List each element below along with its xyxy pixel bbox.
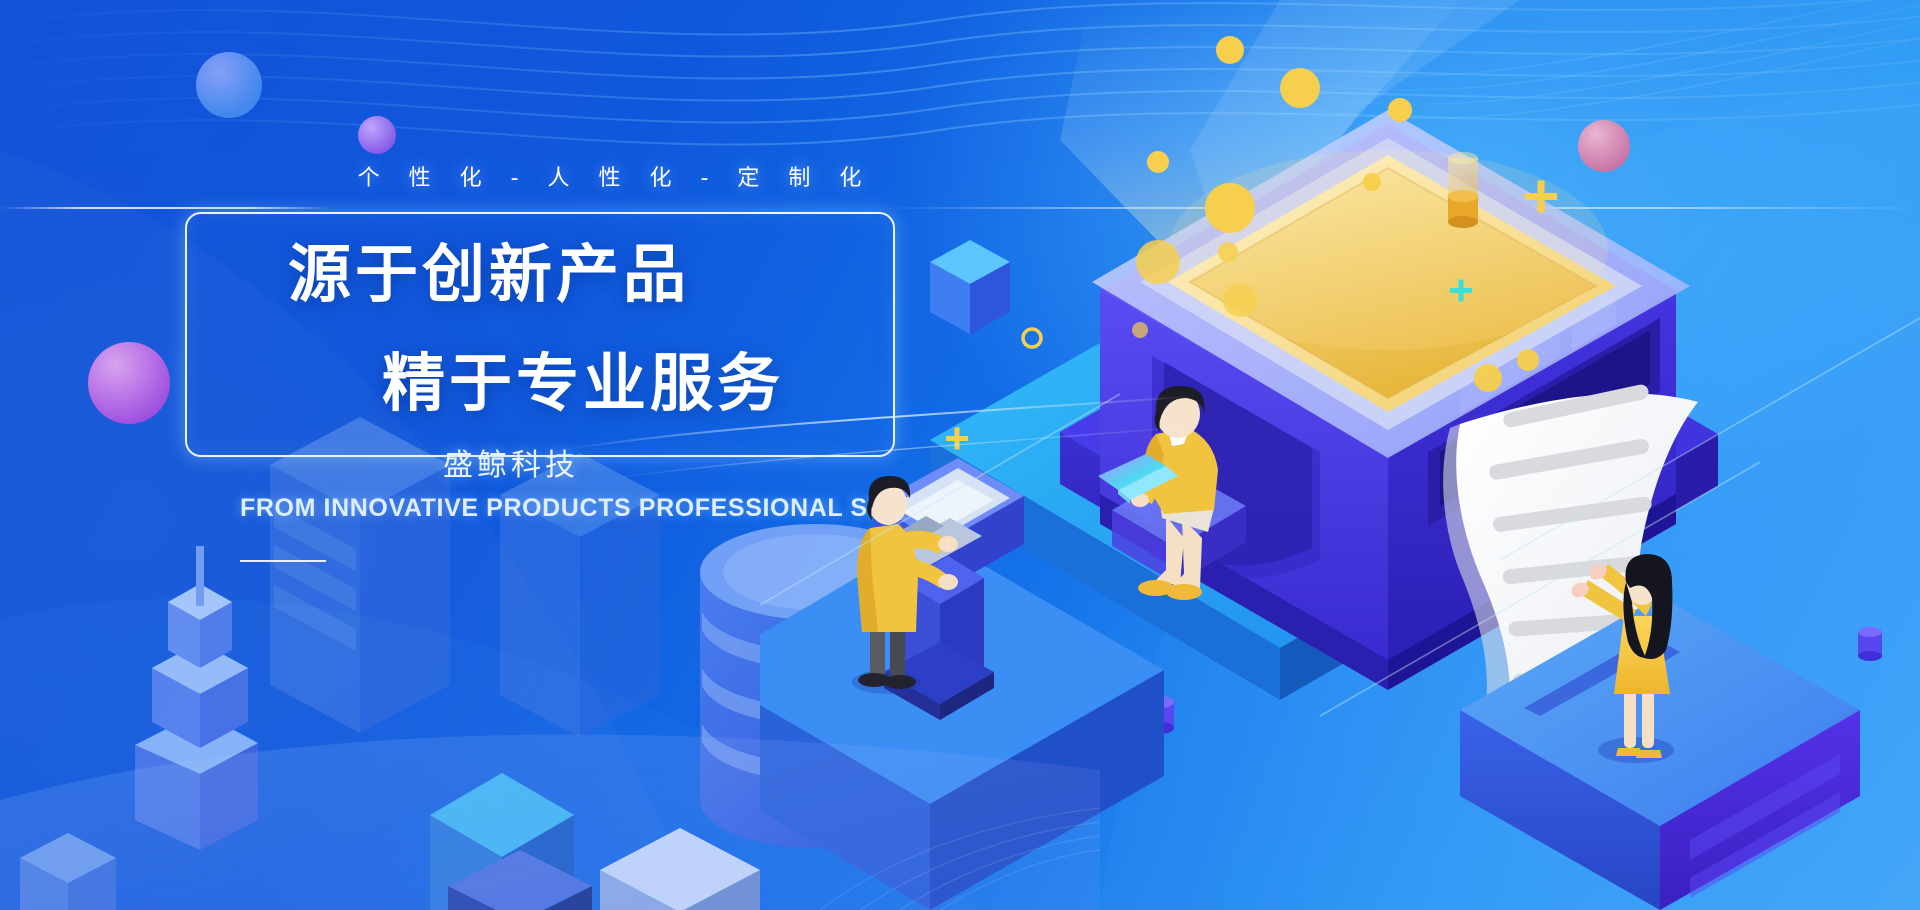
divider-left xyxy=(0,207,330,209)
company-accent-bar xyxy=(240,560,326,562)
headline-line-1: 源于创新产品 xyxy=(288,243,690,306)
decorative-sphere-blue xyxy=(196,52,262,118)
floating-cube xyxy=(930,240,1010,334)
headline-line-2: 精于专业服务 xyxy=(382,352,784,415)
decorative-sphere-purple-large xyxy=(88,342,170,424)
gold-cylinder xyxy=(1448,152,1478,228)
hero-banner: 个 性 化 - 人 性 化 - 定 制 化 源于创新产品 精于专业服务 盛鲸科技… xyxy=(0,0,1920,910)
decorative-sphere-purple-small xyxy=(358,116,396,154)
company-name: 盛鲸科技 xyxy=(443,440,579,484)
isometric-illustration xyxy=(760,0,1920,910)
small-cylinder-right xyxy=(1858,627,1882,661)
circle-outline-icon xyxy=(1023,329,1041,347)
